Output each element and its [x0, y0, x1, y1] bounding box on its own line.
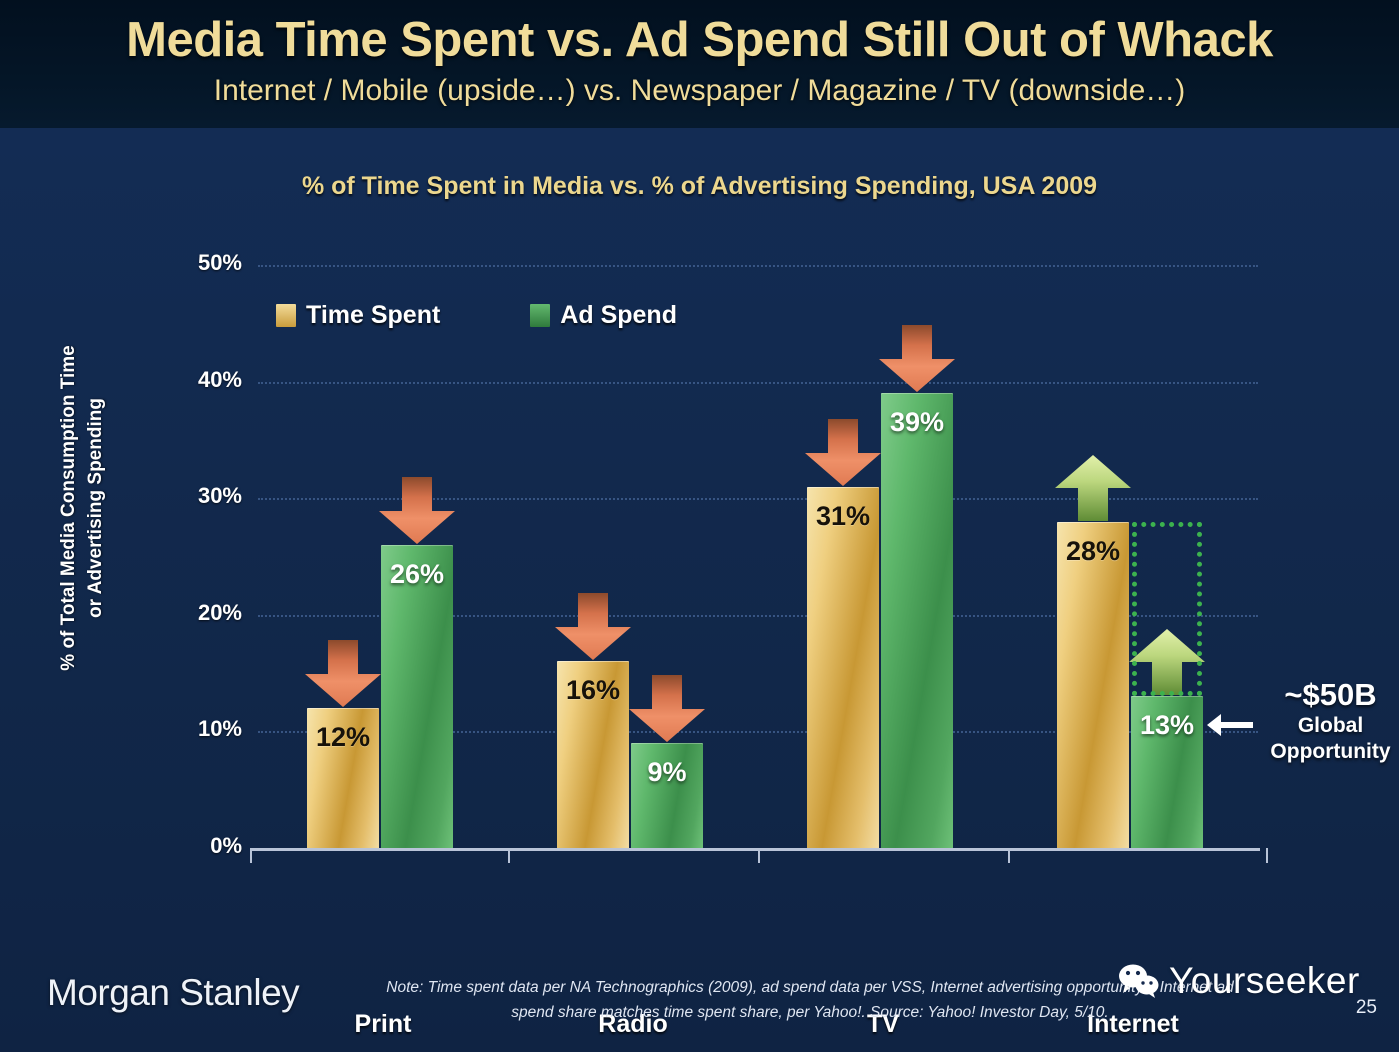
- legend-item-time-spent: Time Spent: [276, 301, 440, 330]
- bar-print-ad-spend: 26%: [381, 545, 453, 848]
- x-axis-tick: [1008, 848, 1010, 863]
- legend-swatch-time-spent: [276, 304, 296, 327]
- arrow-up-icon: [1053, 454, 1133, 522]
- arrow-down-icon: [553, 593, 633, 661]
- x-axis-line: [250, 848, 1260, 851]
- slide-subtitle: Internet / Mobile (upside…) vs. Newspape…: [0, 74, 1399, 108]
- bar-internet-ad-spend: 13%: [1131, 696, 1203, 848]
- bar-tv-ad-spend: 39%: [881, 393, 953, 848]
- bar-value-label: 31%: [807, 501, 879, 532]
- arrow-down-icon: [803, 419, 883, 487]
- bar-value-label: 16%: [557, 675, 629, 706]
- annotation-amount: ~$50B: [1262, 677, 1399, 713]
- gridline: [258, 265, 1258, 267]
- bar-value-label: 39%: [881, 407, 953, 438]
- legend-label-time-spent: Time Spent: [306, 301, 440, 330]
- slide-footer: Morgan Stanley Note: Time spent data per…: [0, 955, 1399, 1052]
- y-axis-tick-label: 10%: [62, 716, 242, 742]
- footnote: Note: Time spent data per NA Technograph…: [300, 975, 1320, 1025]
- y-axis-tick-label: 40%: [62, 367, 242, 393]
- arrow-down-icon: [377, 477, 457, 545]
- annotation-arrow-icon: [1205, 712, 1255, 738]
- x-axis-tick: [1266, 848, 1268, 863]
- x-axis-tick: [250, 848, 252, 863]
- x-axis-tick: [758, 848, 760, 863]
- gridline: [258, 382, 1258, 384]
- y-axis-tick-label: 50%: [62, 250, 242, 276]
- legend-item-ad-spend: Ad Spend: [530, 301, 677, 330]
- bar-print-time-spent: 12%: [307, 708, 379, 848]
- slide-header: Media Time Spent vs. Ad Spend Still Out …: [0, 0, 1399, 128]
- bar-tv-time-spent: 31%: [807, 487, 879, 848]
- page-number: 25: [1356, 997, 1377, 1019]
- bar-value-label: 9%: [631, 757, 703, 788]
- arrow-down-icon: [877, 325, 957, 393]
- bar-value-label: 26%: [381, 559, 453, 590]
- opportunity-annotation: ~$50B Global Opportunity: [1262, 677, 1399, 765]
- morgan-stanley-logo: Morgan Stanley: [47, 972, 299, 1014]
- bar-radio-ad-spend: 9%: [631, 743, 703, 848]
- annotation-line-1: Global: [1262, 713, 1399, 739]
- opportunity-box: [1132, 522, 1202, 697]
- bar-value-label: 28%: [1057, 536, 1129, 567]
- slide-title: Media Time Spent vs. Ad Spend Still Out …: [0, 12, 1399, 68]
- bar-internet-time-spent: 28%: [1057, 522, 1129, 848]
- bar-radio-time-spent: 16%: [557, 661, 629, 848]
- footnote-line-1: Note: Time spent data per NA Technograph…: [386, 979, 1233, 996]
- slide-body: % of Time Spent in Media vs. % of Advert…: [0, 128, 1399, 1052]
- y-axis-tick-label: 0%: [62, 833, 242, 859]
- annotation-line-2: Opportunity: [1262, 739, 1399, 765]
- arrow-down-icon: [627, 675, 707, 743]
- chart-legend: Time Spent Ad Spend: [276, 301, 677, 330]
- bar-value-label: 13%: [1131, 710, 1203, 741]
- footnote-line-2: spend share matches time spent share, pe…: [300, 1000, 1320, 1025]
- arrow-down-icon: [303, 640, 383, 708]
- x-axis-tick: [508, 848, 510, 863]
- chart-title: % of Time Spent in Media vs. % of Advert…: [0, 172, 1399, 201]
- y-axis-tick-label: 20%: [62, 600, 242, 626]
- bar-value-label: 12%: [307, 722, 379, 753]
- legend-swatch-ad-spend: [530, 304, 550, 327]
- legend-label-ad-spend: Ad Spend: [560, 301, 677, 330]
- chart-plot-area: 0%10%20%30%40%50% Time Spent Ad Spend 12…: [258, 265, 1258, 848]
- y-axis-tick-label: 30%: [62, 483, 242, 509]
